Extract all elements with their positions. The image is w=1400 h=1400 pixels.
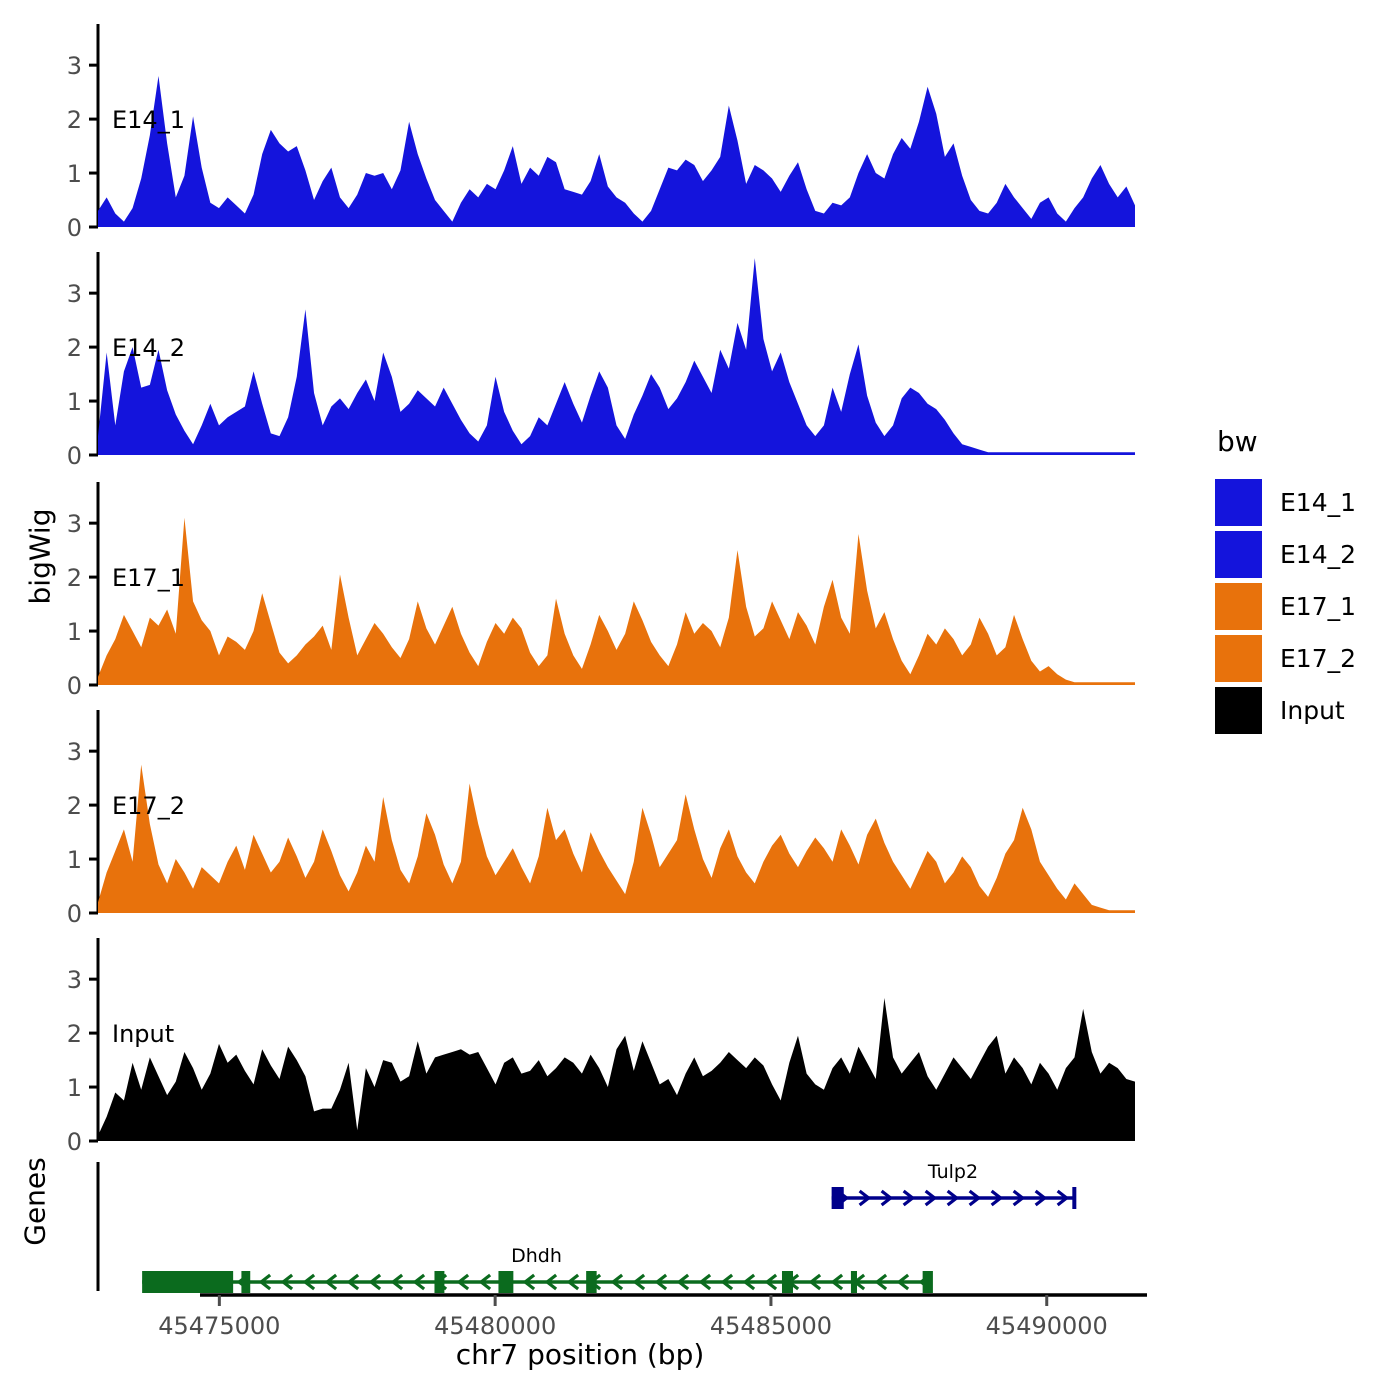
y-tick-label: 3: [67, 738, 82, 766]
y-tick-label: 2: [67, 334, 82, 362]
track-area-e14_1: [98, 76, 1135, 227]
legend-swatch: [1215, 479, 1262, 526]
legend-item-e17_1[interactable]: E17_1: [1215, 580, 1356, 632]
track-area-input: [98, 998, 1135, 1141]
track-label: E14_1: [112, 106, 185, 134]
gene-tulp2[interactable]: Tulp2: [832, 1161, 1075, 1209]
gene-exon: [241, 1271, 250, 1293]
legend-item-input[interactable]: Input: [1215, 684, 1356, 736]
gene-exon: [832, 1187, 844, 1209]
legend-swatch: [1215, 583, 1262, 630]
gene-dhdh[interactable]: Dhdh: [142, 1245, 931, 1293]
gene-exon: [782, 1271, 793, 1293]
track-label: E14_2: [112, 334, 185, 362]
y-tick-label: 2: [67, 1020, 82, 1048]
track-panel-e14_1: 0123E14_1: [0, 22, 1180, 253]
legend-item-e17_2[interactable]: E17_2: [1215, 632, 1356, 684]
gene-label: Tulp2: [927, 1161, 978, 1183]
gene-exon: [851, 1271, 857, 1293]
gene-exon: [586, 1271, 596, 1293]
genome-browser-figure: bigWig Genes chr7 position (bp) 0123E14_…: [0, 0, 1400, 1400]
y-tick-label: 2: [67, 106, 82, 134]
track-label: E17_2: [112, 792, 185, 820]
y-tick-label: 3: [67, 510, 82, 538]
legend-swatch: [1215, 635, 1262, 682]
y-tick-label: 0: [67, 1128, 82, 1156]
y-tick-label: 3: [67, 966, 82, 994]
y-tick-label: 1: [67, 618, 82, 646]
track-area-e17_1: [98, 518, 1135, 685]
x-tick-label: 45480000: [434, 1312, 556, 1340]
legend-title: bw: [1217, 425, 1356, 458]
track-area-e14_2: [98, 258, 1135, 455]
legend-item-e14_1[interactable]: E14_1: [1215, 476, 1356, 528]
legend-swatch: [1215, 531, 1262, 578]
genes-track: Tulp2Dhdh: [0, 1160, 1180, 1295]
y-tick-label: 1: [67, 160, 82, 188]
y-tick-label: 0: [67, 442, 82, 470]
y-tick-label: 1: [67, 846, 82, 874]
legend-label: E17_1: [1280, 592, 1356, 621]
gene-exon: [434, 1271, 444, 1293]
track-panel-e17_2: 0123E17_2: [0, 708, 1180, 939]
gene-label: Dhdh: [511, 1245, 562, 1267]
y-tick-label: 0: [67, 900, 82, 928]
track-panel-e14_2: 0123E14_2: [0, 250, 1180, 481]
legend-label: Input: [1280, 696, 1345, 725]
track-panel-input: 0123Input: [0, 936, 1180, 1167]
legend-swatch: [1215, 687, 1262, 734]
legend: bw E14_1E14_2E17_1E17_2Input: [1215, 425, 1356, 736]
legend-label: E14_1: [1280, 488, 1356, 517]
y-tick-label: 2: [67, 792, 82, 820]
y-tick-label: 1: [67, 1074, 82, 1102]
x-axis-ticks: 45475000454800004548500045490000: [0, 1292, 1180, 1348]
gene-exon: [498, 1271, 513, 1293]
track-label: E17_1: [112, 564, 185, 592]
y-tick-label: 3: [67, 52, 82, 80]
y-tick-label: 0: [67, 672, 82, 700]
y-tick-label: 3: [67, 280, 82, 308]
legend-item-e14_2[interactable]: E14_2: [1215, 528, 1356, 580]
gene-exon: [142, 1271, 233, 1293]
x-tick-label: 45490000: [986, 1312, 1108, 1340]
track-area-e17_2: [98, 765, 1135, 913]
track-panel-e17_1: 0123E17_1: [0, 480, 1180, 711]
track-label: Input: [112, 1020, 174, 1048]
legend-label: E14_2: [1280, 540, 1356, 569]
y-tick-label: 0: [67, 214, 82, 242]
x-tick-label: 45485000: [710, 1312, 832, 1340]
legend-items: E14_1E14_2E17_1E17_2Input: [1215, 476, 1356, 736]
x-tick-label: 45475000: [158, 1312, 280, 1340]
legend-label: E17_2: [1280, 644, 1356, 673]
y-tick-label: 1: [67, 388, 82, 416]
y-tick-label: 2: [67, 564, 82, 592]
